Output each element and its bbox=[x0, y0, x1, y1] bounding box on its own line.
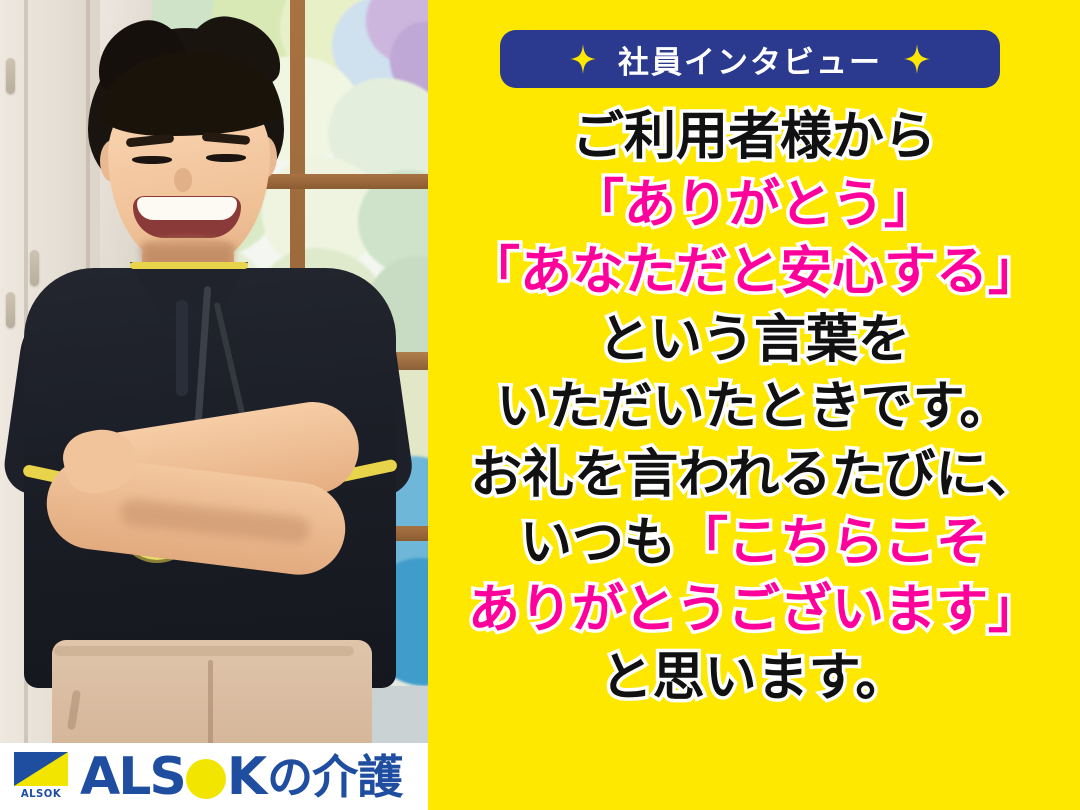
alsok-logo-mark-icon: ALSOK bbox=[14, 752, 68, 802]
quote-text-block: ご利用者様から 「ありがとう」 「あなただと安心する」 という言葉を いただいた… bbox=[428, 104, 1080, 712]
staff-photo bbox=[0, 0, 428, 810]
person-figure bbox=[0, 0, 428, 810]
logo-diagonal-square bbox=[14, 752, 68, 786]
quote-line-7-segment-2: 「こちらこそ bbox=[676, 513, 988, 573]
sparkle-icon bbox=[570, 44, 596, 74]
eye bbox=[206, 154, 246, 162]
brand-logo-bar: ALSOK ALS K の介護 bbox=[0, 743, 428, 810]
logo-o-circle-icon bbox=[186, 759, 226, 799]
nose bbox=[174, 168, 192, 192]
quote-line-6: お礼を言われるたびに、 bbox=[470, 442, 1038, 510]
teeth bbox=[137, 197, 237, 220]
collar-trim bbox=[130, 262, 248, 269]
poster-root: ALSOK ALS K の介護 社員インタビュー ご利用者様から 「ありがとう」… bbox=[0, 0, 1080, 810]
quote-line-7-segment-1: いつも bbox=[520, 513, 676, 573]
quote-line-3: 「あなただと安心する」 bbox=[468, 239, 1040, 307]
quote-panel: 社員インタビュー ご利用者様から 「ありがとう」 「あなただと安心する」 という… bbox=[428, 0, 1080, 810]
waistband bbox=[54, 646, 354, 656]
logo-latin-after-o: K bbox=[227, 751, 265, 803]
logo-japanese-suffix: の介護 bbox=[267, 754, 402, 800]
quote-line-4: という言葉を bbox=[598, 307, 910, 375]
quote-line-8: ありがとうございます」 bbox=[468, 577, 1040, 645]
quote-line-5: いただいたときです。 bbox=[497, 374, 1012, 442]
trouser-seam bbox=[208, 660, 213, 756]
logo-wordmark: ALS K の介護 bbox=[80, 751, 402, 803]
shirt-placket bbox=[176, 300, 188, 396]
interview-header-badge: 社員インタビュー bbox=[500, 30, 1000, 88]
logo-mark-wordmark: ALSOK bbox=[18, 786, 64, 801]
interview-badge-label: 社員インタビュー bbox=[618, 37, 882, 82]
quote-line-1: ご利用者様から bbox=[572, 104, 936, 172]
quote-line-7: いつも「こちらこそ bbox=[520, 510, 988, 578]
sparkle-icon bbox=[904, 44, 930, 74]
eye bbox=[132, 156, 172, 164]
quote-line-2: 「ありがとう」 bbox=[572, 172, 936, 240]
quote-line-9: と思います。 bbox=[601, 645, 908, 713]
smiling-mouth bbox=[133, 196, 241, 238]
logo-latin-before-o: ALS bbox=[80, 751, 185, 803]
